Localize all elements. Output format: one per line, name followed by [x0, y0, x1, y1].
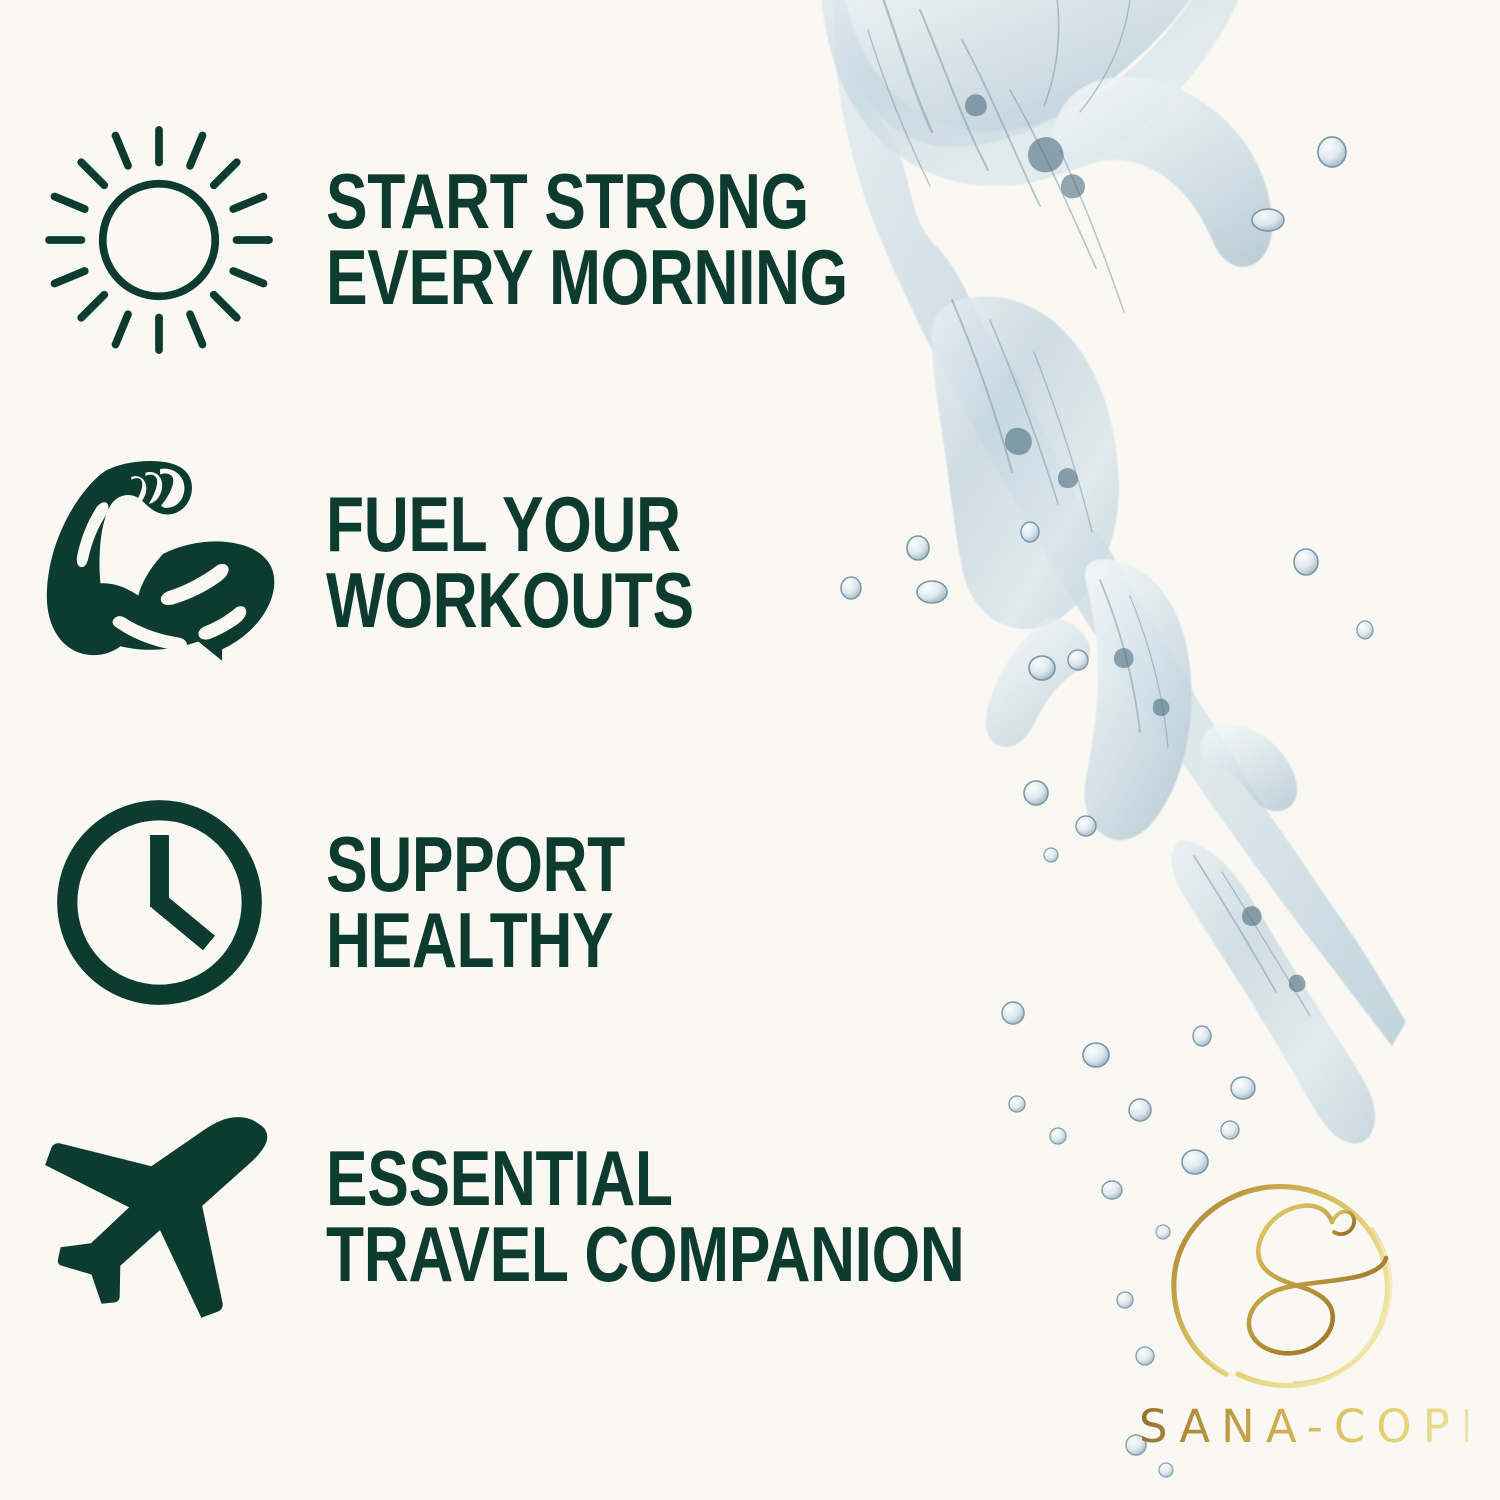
benefit-label: FUEL YOUR WORKOUTS	[326, 487, 694, 638]
benefit-item-travel-companion: ESSENTIAL TRAVEL COMPANION	[34, 1112, 1124, 1322]
benefit-line: SUPPORT	[326, 827, 625, 903]
benefit-line: WORKOUTS	[326, 563, 694, 639]
benefit-label: ESSENTIAL TRAVEL COMPANION	[326, 1141, 964, 1292]
benefit-label: SUPPORT HEALTHY	[326, 827, 625, 978]
benefit-line: FUEL YOUR	[326, 487, 694, 563]
brand-monogram-mark	[1148, 1168, 1448, 1398]
benefit-item-fuel-workouts: FUEL YOUR WORKOUTS	[34, 455, 786, 670]
benefits-list: START STRONG EVERY MORNING	[0, 0, 1080, 1500]
benefit-line: TRAVEL COMPANION	[326, 1217, 964, 1293]
benefit-line: EVERY MORNING	[326, 240, 848, 316]
brand-wordmark: SANA-COPIA	[1128, 1400, 1468, 1453]
benefit-line: HEALTHY	[326, 903, 625, 979]
sun-icon	[34, 115, 284, 365]
benefit-line: ESSENTIAL	[326, 1141, 964, 1217]
benefit-item-start-strong: START STRONG EVERY MORNING	[34, 115, 978, 365]
airplane-icon	[34, 1112, 284, 1322]
brand-logo: SANA-COPIA	[1128, 1168, 1468, 1468]
flexed-bicep-icon	[34, 455, 284, 670]
benefit-item-support-healthy: SUPPORT HEALTHY	[34, 790, 700, 1015]
benefit-label: START STRONG EVERY MORNING	[326, 164, 848, 315]
benefit-line: START STRONG	[326, 164, 848, 240]
clock-icon	[34, 790, 284, 1015]
poster-canvas: START STRONG EVERY MORNING	[0, 0, 1500, 1500]
